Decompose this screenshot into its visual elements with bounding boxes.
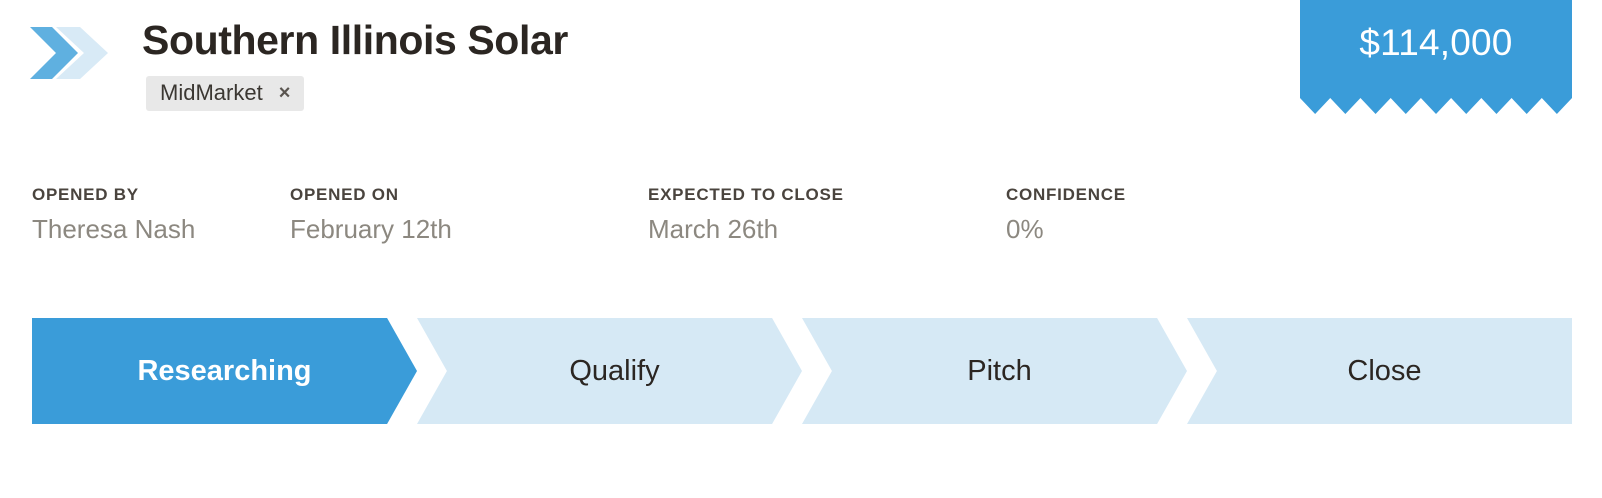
pipeline-stage-qualify[interactable]: Qualify — [417, 318, 802, 424]
meta-confidence: CONFIDENCE 0% — [1006, 186, 1126, 244]
meta-value: February 12th — [290, 215, 648, 244]
deal-amount: $114,000 — [1300, 22, 1572, 64]
meta-label: EXPECTED TO CLOSE — [648, 186, 1006, 203]
meta-opened-by: OPENED BY Theresa Nash — [32, 186, 290, 244]
deal-meta-row: OPENED BY Theresa Nash OPENED ON Februar… — [32, 186, 1126, 244]
meta-opened-on: OPENED ON February 12th — [290, 186, 648, 244]
stage-label: Pitch — [802, 318, 1187, 424]
meta-label: OPENED ON — [290, 186, 648, 203]
title-block: Southern Illinois Solar MidMarket × — [142, 18, 568, 111]
page-title: Southern Illinois Solar — [142, 18, 568, 64]
meta-label: CONFIDENCE — [1006, 186, 1126, 203]
deal-amount-ribbon: $114,000 — [1300, 0, 1572, 116]
deal-header-screen: Southern Illinois Solar MidMarket × $114… — [0, 0, 1602, 498]
meta-expected-to-close: EXPECTED TO CLOSE March 26th — [648, 186, 1006, 244]
stage-label: Close — [1187, 318, 1572, 424]
meta-value: 0% — [1006, 215, 1126, 244]
tag-row: MidMarket × — [146, 76, 304, 111]
meta-value: Theresa Nash — [32, 215, 290, 244]
pipeline-stage-pitch[interactable]: Pitch — [802, 318, 1187, 424]
close-icon[interactable]: × — [279, 83, 291, 103]
pipeline-stage-bar: Researching Qualify Pitch Close — [32, 318, 1572, 424]
stage-label: Researching — [32, 318, 417, 424]
pipeline-stage-researching[interactable]: Researching — [32, 318, 417, 424]
stage-label: Qualify — [417, 318, 802, 424]
segment-tag-label: MidMarket — [160, 82, 263, 104]
pipeline-stage-close[interactable]: Close — [1187, 318, 1572, 424]
double-chevron-icon — [30, 27, 110, 79]
segment-tag[interactable]: MidMarket × — [146, 76, 304, 111]
meta-label: OPENED BY — [32, 186, 290, 203]
meta-value: March 26th — [648, 215, 1006, 244]
deal-title-row: Southern Illinois Solar MidMarket × — [30, 18, 568, 111]
